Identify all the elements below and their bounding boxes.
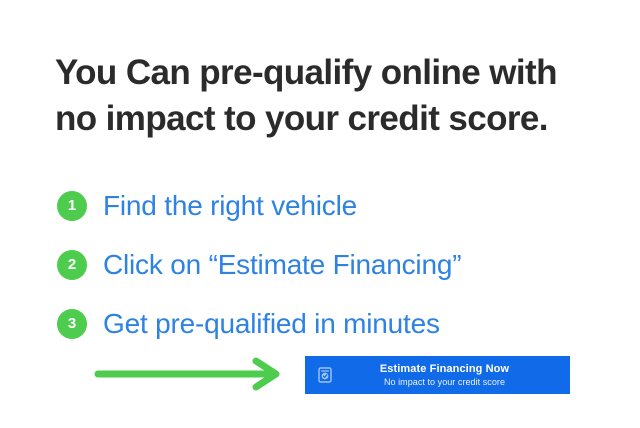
financing-document-icon — [313, 367, 337, 383]
cta-subtitle: No impact to your credit score — [337, 376, 552, 389]
steps-list: 1 Find the right vehicle 2 Click on “Est… — [57, 176, 597, 353]
list-item: 3 Get pre-qualified in minutes — [57, 294, 597, 353]
list-item: 2 Click on “Estimate Financing” — [57, 235, 597, 294]
arrow-right-icon — [92, 356, 287, 392]
page-title: You Can pre-qualify online with no impac… — [55, 50, 585, 142]
step-label: Click on “Estimate Financing” — [103, 249, 461, 281]
list-item: 1 Find the right vehicle — [57, 176, 597, 235]
headline-line-2: no impact to your credit score. — [55, 96, 585, 142]
step-label: Get pre-qualified in minutes — [103, 308, 440, 340]
step-label: Find the right vehicle — [103, 190, 357, 222]
estimate-financing-button[interactable]: Estimate Financing Now No impact to your… — [305, 356, 570, 394]
step-number-badge: 3 — [57, 309, 87, 339]
headline-line-1: You Can pre-qualify online with — [55, 50, 585, 96]
cta-title: Estimate Financing Now — [337, 362, 552, 376]
step-number-badge: 1 — [57, 191, 87, 221]
cta-text-group: Estimate Financing Now No impact to your… — [337, 362, 570, 389]
promo-banner: You Can pre-qualify online with no impac… — [0, 0, 640, 428]
step-number-badge: 2 — [57, 250, 87, 280]
